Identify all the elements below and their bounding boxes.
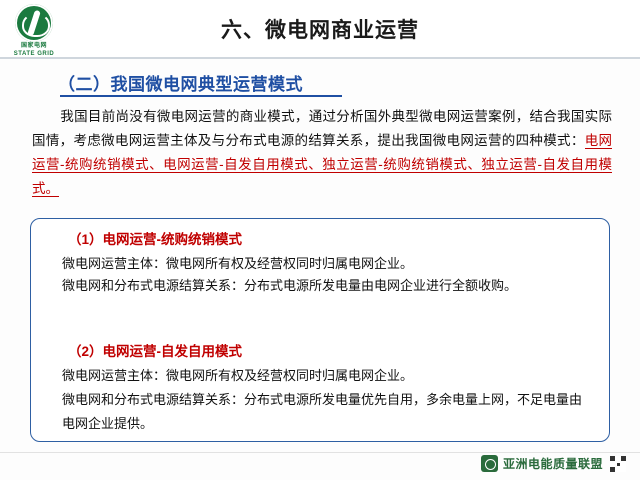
logo-name-cn: 国家电网 — [8, 43, 60, 50]
mode-2-line-1: 微电网运营主体：微电网所有权及经营权同时归属电网企业。 — [62, 364, 413, 387]
header-divider — [0, 57, 640, 59]
alliance-badge-icon — [481, 455, 498, 472]
slide: 国家电网 STATE GRID 六、微电网商业运营 （二）我国微电网典型运营模式… — [0, 0, 640, 480]
mode-1-line-2: 微电网和分布式电源结算关系：分布式电源所发电量由电网企业进行全额收购。 — [62, 274, 582, 298]
intro-text: 我国目前尚没有微电网运营的商业模式，通过分析国外典型微电网运营案例，结合我国实际… — [32, 109, 612, 148]
intro-paragraph: 我国目前尚没有微电网运营的商业模式，通过分析国外典型微电网运营案例，结合我国实际… — [32, 105, 612, 201]
section-heading: （二）我国微电网典型运营模式 — [58, 70, 303, 95]
slide-header: 国家电网 STATE GRID 六、微电网商业运营 — [0, 0, 640, 58]
mode-1-title: （1）电网运营-统购统销模式 — [68, 228, 242, 248]
mode-2-title: （2）电网运营-自发自用模式 — [68, 340, 242, 360]
section-heading-underline — [60, 95, 342, 97]
page-title: 六、微电网商业运营 — [0, 14, 640, 44]
footer-divider — [0, 452, 640, 453]
mode-1-line-1: 微电网运营主体：微电网所有权及经营权同时归属电网企业。 — [62, 252, 413, 275]
qr-code-icon — [610, 456, 626, 472]
mode-2-line-2: 微电网和分布式电源结算关系：分布式电源所发电量优先自用，多余电量上网，不足电量由… — [62, 388, 592, 436]
footer-label: 亚洲电能质量联盟 — [503, 455, 603, 472]
footer-watermark: 亚洲电能质量联盟 — [481, 455, 626, 472]
